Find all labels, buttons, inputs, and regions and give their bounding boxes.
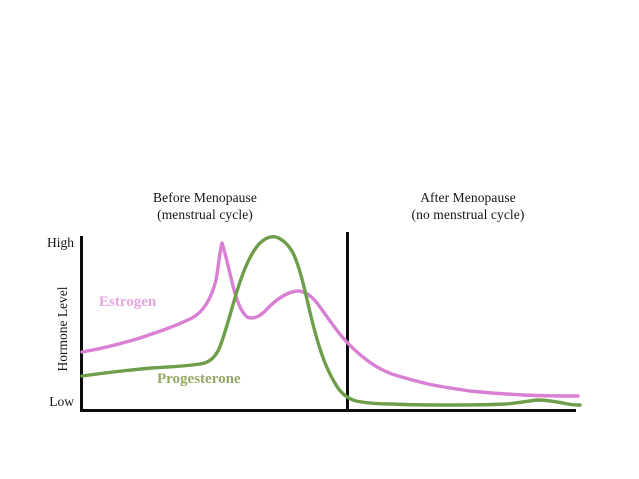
- chart-plot-area: [0, 0, 639, 479]
- y-axis-tick-high: High: [18, 236, 74, 250]
- section-header-before-line2: (menstrual cycle): [110, 207, 300, 224]
- series-label-progesterone: Progesterone: [157, 371, 241, 387]
- section-header-after-line1: After Menopause: [420, 190, 516, 205]
- y-axis-title: Hormone Level: [56, 259, 70, 399]
- menopause-divider-line: [346, 232, 349, 412]
- section-header-before-line1: Before Menopause: [153, 190, 257, 205]
- x-axis-line: [80, 409, 576, 412]
- chart-canvas: Before Menopause (menstrual cycle) After…: [0, 0, 639, 479]
- section-header-after-menopause: After Menopause (no menstrual cycle): [373, 190, 563, 223]
- section-header-after-line2: (no menstrual cycle): [373, 207, 563, 224]
- series-label-estrogen: Estrogen: [99, 294, 156, 310]
- section-header-before-menopause: Before Menopause (menstrual cycle): [110, 190, 300, 223]
- y-axis-line: [80, 236, 83, 412]
